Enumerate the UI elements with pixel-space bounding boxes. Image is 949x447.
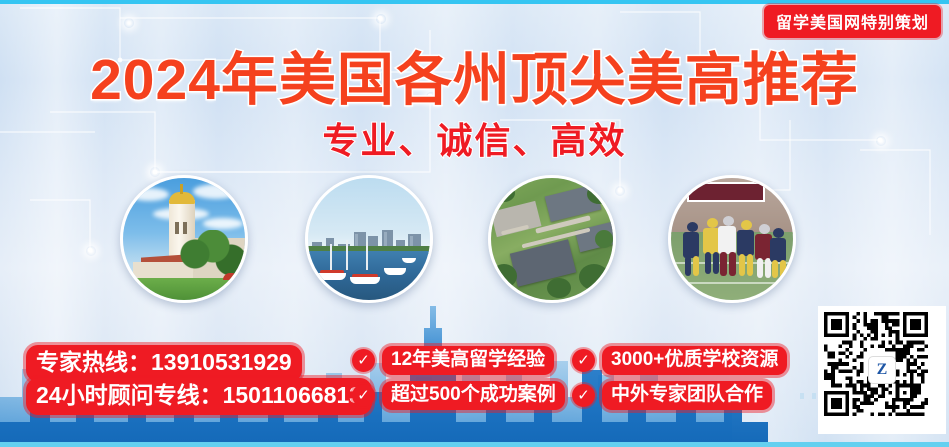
feature-label: 3000+优质学校资源: [602, 346, 787, 375]
qr-logo-letter: Z: [877, 362, 888, 378]
glow-dot: [615, 186, 625, 196]
check-icon: ✓: [572, 384, 595, 407]
feature-label: 12年美高留学经验: [382, 346, 554, 375]
feature-item: ✓ 中外专家团队合作: [572, 381, 772, 410]
qr-code[interactable]: Z: [818, 306, 946, 434]
feature-label: 中外专家团队合作: [602, 381, 772, 410]
feature-item: ✓ 超过500个成功案例: [352, 381, 565, 410]
bottom-accent-line: [0, 442, 949, 447]
top-accent-line: [0, 0, 949, 4]
photo-city-waterfront: [305, 175, 433, 303]
glow-dot: [124, 18, 134, 28]
feature-item: ✓ 3000+优质学校资源: [572, 346, 787, 375]
qr-center-logo: Z: [869, 357, 895, 383]
expert-hotline: 专家热线：13910531929: [26, 345, 302, 382]
page-title: 2024年美国各州顶尖美高推荐: [0, 34, 949, 116]
glow-dot: [86, 246, 96, 256]
check-icon: ✓: [352, 349, 375, 372]
feature-label: 超过500个成功案例: [382, 381, 565, 410]
check-icon: ✓: [572, 349, 595, 372]
check-icon: ✓: [352, 384, 375, 407]
photo-football-game: [668, 175, 796, 303]
consultant-hotline-24h: 24小时顾问专线：15011066813: [26, 378, 372, 415]
photo-aerial-campus: [488, 175, 616, 303]
feature-item: ✓ 12年美高留学经验: [352, 346, 554, 375]
glow-dot: [150, 167, 160, 177]
photo-campus-bell-tower: [120, 175, 248, 303]
promo-banner: 留学美国网特别策划 2024年美国各州顶尖美高推荐 专业、诚信、高效: [0, 0, 949, 447]
glow-dot: [376, 14, 386, 24]
page-subtitle: 专业、诚信、高效: [0, 112, 949, 164]
